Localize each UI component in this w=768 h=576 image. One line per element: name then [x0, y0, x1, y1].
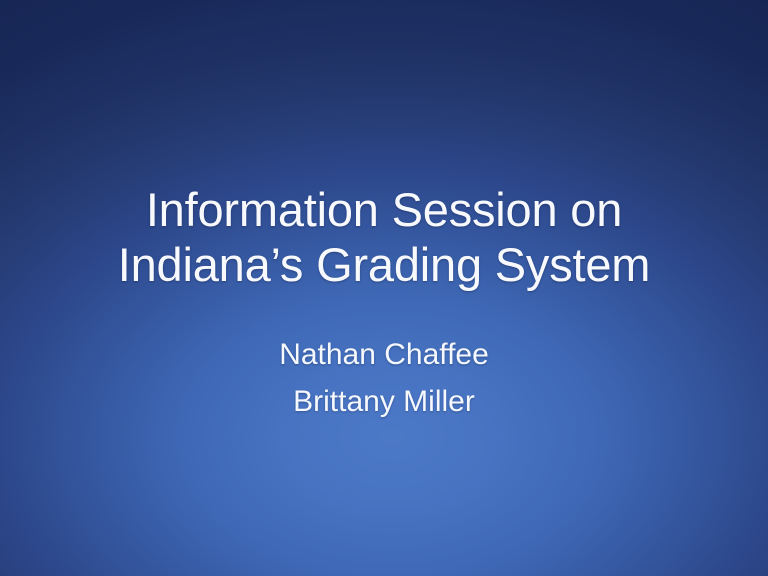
presentation-slide: Information Session on Indiana’s Grading…	[0, 0, 768, 576]
presenter-name-primary: Nathan Chaffee	[84, 332, 684, 379]
title-placeholder: Information Session on Indiana’s Grading…	[54, 183, 714, 292]
presenter-name-secondary: Brittany Miller	[84, 379, 684, 426]
subtitle-placeholder: Nathan Chaffee Brittany Miller	[84, 332, 684, 426]
slide-content: Information Session on Indiana’s Grading…	[0, 0, 768, 576]
slide-title: Information Session on Indiana’s Grading…	[54, 183, 714, 292]
